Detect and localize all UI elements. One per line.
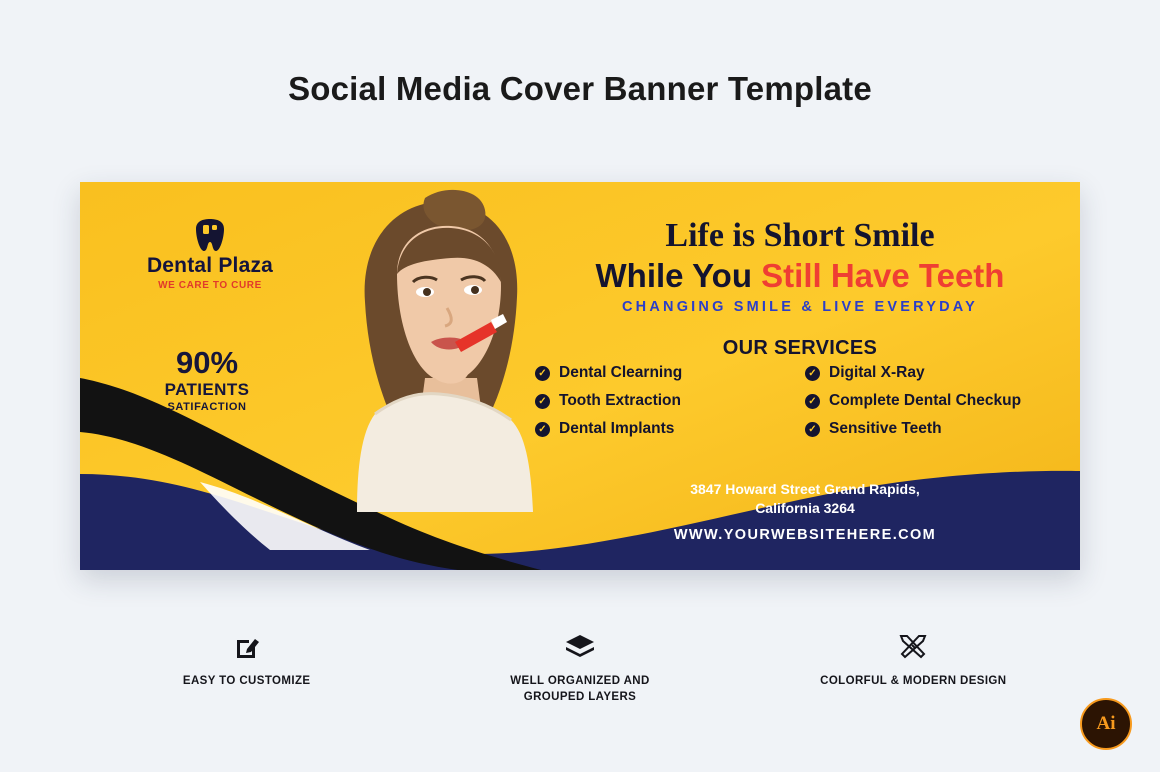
list-item: ✓Dental Clearning	[535, 364, 805, 382]
feature-label: WELL ORGANIZED AND GROUPED LAYERS	[413, 674, 746, 705]
feature-label: EASY TO CUSTOMIZE	[80, 674, 413, 690]
feature-row: EASY TO CUSTOMIZE WELL ORGANIZED AND GRO…	[80, 630, 1080, 705]
services-list: ✓Dental Clearning ✓Digital X-Ray ✓Tooth …	[535, 364, 1075, 448]
service-label: Dental Implants	[559, 420, 674, 438]
list-item: ✓Dental Implants	[535, 420, 805, 438]
tooth-icon	[193, 217, 227, 253]
logo-tagline: WE CARE TO CURE	[120, 280, 300, 291]
address-line2: California 3264	[535, 499, 1075, 518]
service-label: Complete Dental Checkup	[829, 392, 1021, 410]
check-icon: ✓	[805, 394, 820, 409]
service-label: Tooth Extraction	[559, 392, 681, 410]
list-item: ✓Digital X-Ray	[805, 364, 1075, 382]
check-icon: ✓	[535, 422, 550, 437]
check-icon: ✓	[805, 366, 820, 381]
logo-name: Dental Plaza	[120, 255, 300, 276]
address-line1: 3847 Howard Street Grand Rapids,	[535, 480, 1075, 499]
layers-icon	[413, 630, 746, 664]
service-label: Sensitive Teeth	[829, 420, 942, 438]
cover-banner: Dental Plaza WE CARE TO CURE 90% PATIENT…	[80, 182, 1080, 570]
contact-block: 3847 Howard Street Grand Rapids, Califor…	[535, 480, 1075, 543]
stat-number: 90%	[132, 347, 282, 378]
services-title: OUR SERVICES	[535, 337, 1065, 360]
girl-with-toothbrush-photo	[305, 182, 570, 512]
check-icon: ✓	[535, 394, 550, 409]
service-label: Digital X-Ray	[829, 364, 925, 382]
headline-line3: CHANGING SMILE & LIVE EVERYDAY	[535, 299, 1065, 315]
list-item: ✓Tooth Extraction	[535, 392, 805, 410]
service-label: Dental Clearning	[559, 364, 682, 382]
headline-block: Life is Short Smile While You Still Have…	[535, 218, 1065, 315]
headline-line2-black: While You	[596, 257, 762, 294]
list-item: ✓Sensitive Teeth	[805, 420, 1075, 438]
design-tools-icon	[747, 630, 1080, 664]
brand-logo: Dental Plaza WE CARE TO CURE	[120, 217, 300, 291]
headline-line2-red: Still Have Teeth	[761, 257, 1004, 294]
feature-well-organized-layers: WELL ORGANIZED AND GROUPED LAYERS	[413, 630, 746, 705]
headline-line2: While You Still Have Teeth	[535, 258, 1065, 294]
adobe-illustrator-badge: Ai	[1080, 698, 1132, 750]
stat-line2: SATIFACTION	[132, 401, 282, 413]
model-photo	[305, 182, 570, 512]
feature-label: COLORFUL & MODERN DESIGN	[747, 674, 1080, 690]
check-icon: ✓	[535, 366, 550, 381]
stat-line1: PATIENTS	[132, 380, 282, 400]
headline-line1: Life is Short Smile	[535, 218, 1065, 254]
patient-satisfaction-stat: 90% PATIENTS SATIFACTION	[132, 347, 282, 413]
page-title: Social Media Cover Banner Template	[0, 70, 1160, 108]
website-url[interactable]: WWW.YOURWEBSITEHERE.COM	[535, 527, 1075, 543]
list-item: ✓Complete Dental Checkup	[805, 392, 1075, 410]
check-icon: ✓	[805, 422, 820, 437]
feature-colorful-modern-design: COLORFUL & MODERN DESIGN	[747, 630, 1080, 705]
feature-easy-to-customize: EASY TO CUSTOMIZE	[80, 630, 413, 705]
badge-label: Ai	[1097, 713, 1116, 735]
pencil-square-icon	[80, 630, 413, 664]
